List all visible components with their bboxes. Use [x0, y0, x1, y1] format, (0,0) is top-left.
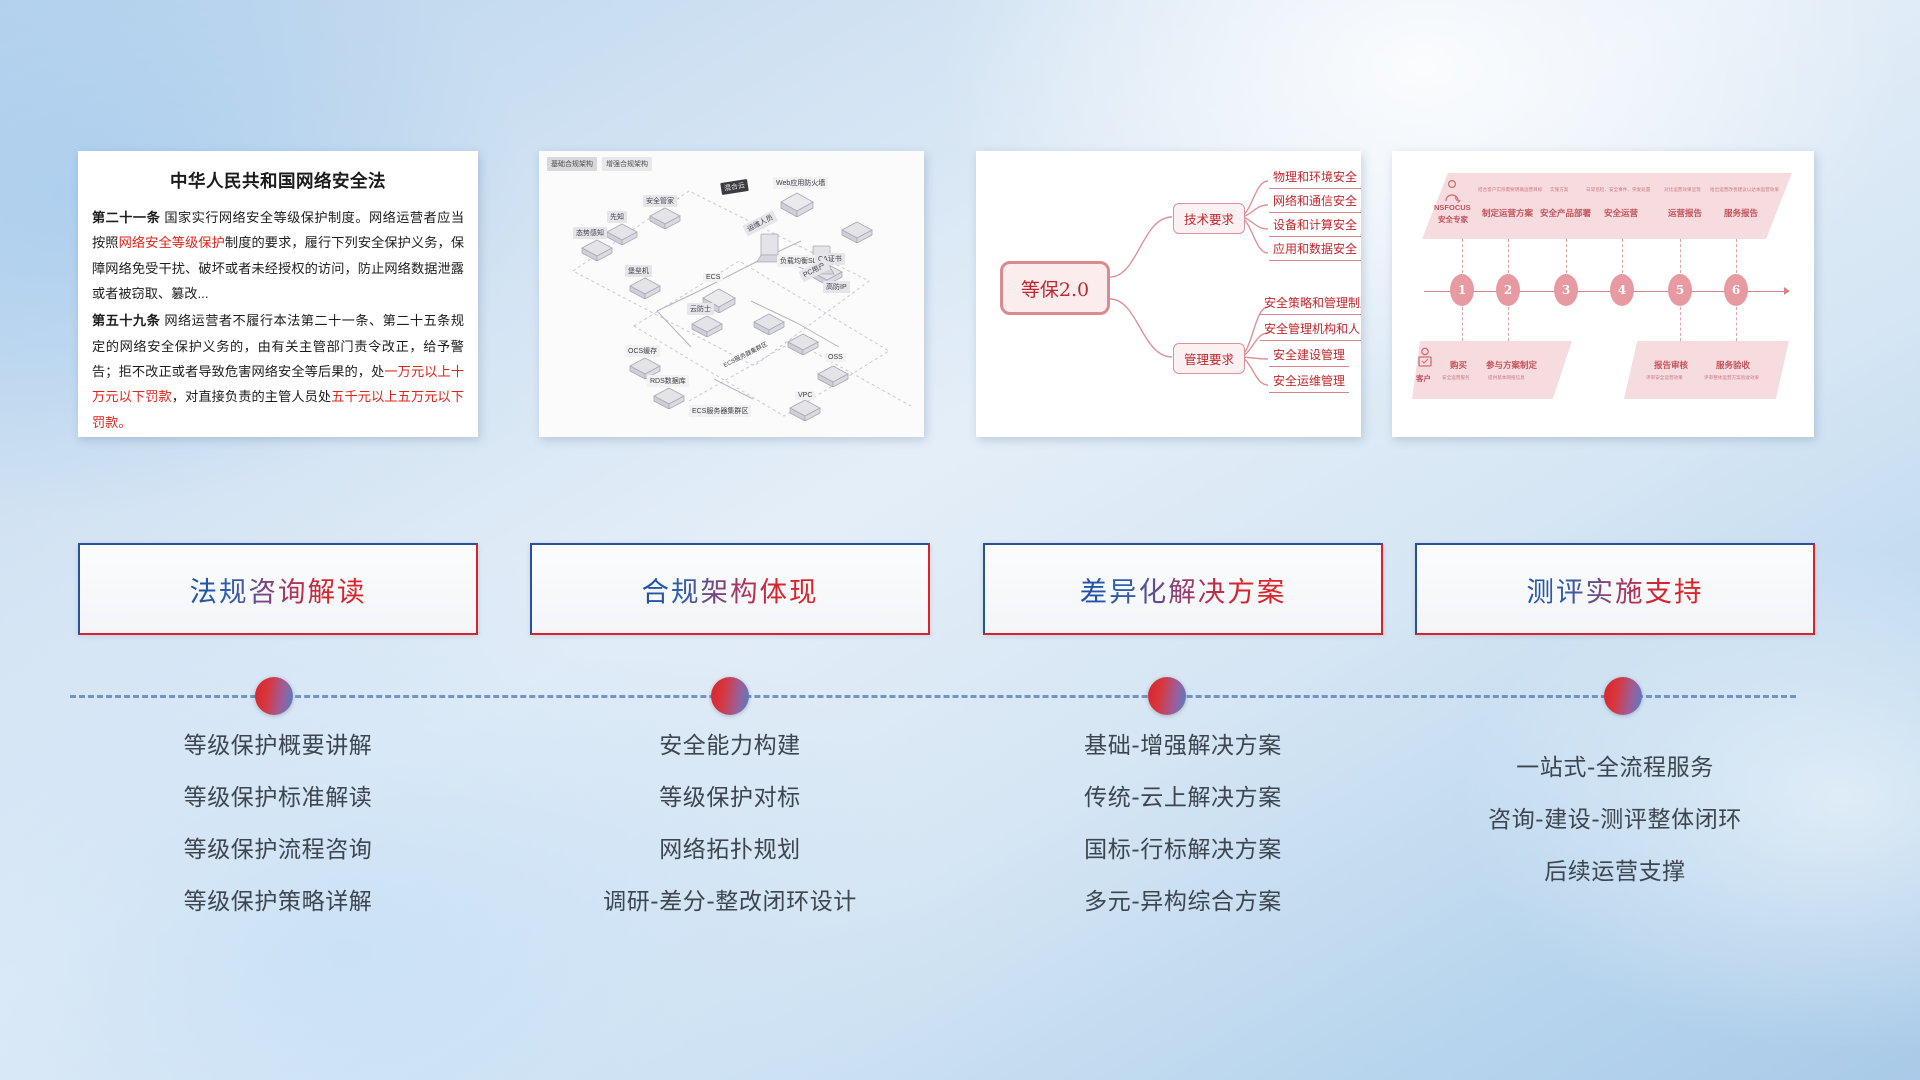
timeline-dot-4[interactable] [1604, 677, 1642, 715]
expert-label-line2: 安全专家 [1438, 214, 1468, 225]
timeline-marker-5[interactable]: 5 [1668, 274, 1692, 306]
detail-column-2: 安全能力构建 等级保护对标 网络拓扑规划 调研-差分-整改闭环设计 [530, 735, 930, 943]
connector-top-2 [1508, 239, 1509, 273]
architecture-canvas: 基础合规架构 增强合规架构 [539, 151, 924, 437]
top-step-4-title: 运营报告 [1668, 207, 1702, 219]
detail-lists-row: 等级保护概要讲解 等级保护标准解读 等级保护流程咨询 等级保护策略详解 安全能力… [0, 735, 1920, 955]
bottom-step-2-sub: 提供基本网络信息 [1488, 375, 1525, 381]
header-label-4: 测评实施支持 [1527, 569, 1704, 609]
top-step-5-title: 服务报告 [1724, 207, 1758, 219]
connector-bottom-1 [1462, 307, 1463, 341]
top-step-2-sub: 实施方案 [1550, 187, 1568, 193]
node-cube-slb [839, 217, 875, 248]
top-step-3-sub: 日常巡检、安全事件、突发处置 [1586, 187, 1650, 193]
connector-top-3 [1566, 239, 1567, 273]
nsfocus-canvas: NSFOCUS 安全专家 结合客户实际需要明确运营目标 制定运营方案 实施方案 … [1392, 151, 1814, 437]
timeline-marker-1[interactable]: 1 [1450, 274, 1474, 306]
list-item: 调研-差分-整改闭环设计 [530, 891, 930, 914]
label-ocs-cache: OCS缓存 [625, 345, 660, 357]
node-cube-yundunshi [689, 311, 725, 342]
node-cube-security-butler [647, 203, 683, 234]
article-59-text-b: ，对直接负责的主管人员处 [172, 389, 331, 404]
node-cube-webwaf [777, 187, 817, 222]
label-vpc: VPC [795, 391, 815, 400]
card-law-document[interactable]: 中华人民共和国网络安全法 第二十一条 国家实行网络安全等级保护制度。网络运营者应… [78, 151, 478, 437]
list-item: 等级保护概要讲解 [78, 735, 478, 758]
bottom-step-4-sub: 评审整体运营方案验收效果 [1704, 375, 1759, 381]
header-button-compliance-architecture[interactable]: 合规架构体现 [530, 543, 930, 635]
customer-person-icon [1416, 347, 1434, 374]
label-situational: 态势感知 [573, 227, 607, 239]
timeline-dot-2[interactable] [711, 677, 749, 715]
connector-top-5 [1680, 239, 1681, 273]
list-item: 传统-云上解决方案 [983, 787, 1383, 810]
header-button-regulation-consulting[interactable]: 法规咨询解读 [78, 543, 478, 635]
timeline-marker-4[interactable]: 4 [1610, 274, 1634, 306]
mindmap-leaf-network-comm[interactable]: 网络和通信安全 [1269, 191, 1361, 213]
header-buttons-row: 法规咨询解读 合规架构体现 差异化解决方案 测评实施支持 [0, 543, 1920, 639]
bottom-step-3-title: 报告审核 [1654, 359, 1688, 371]
top-step-1-sub: 结合客户实际需要明确运营目标 [1478, 187, 1542, 193]
law-article-59: 第五十九条 网络运营者不履行本法第二十一条、第二十五条规定的网络安全保护义务的，… [92, 308, 464, 435]
mindmap-leaf-policy-system[interactable]: 安全策略和管理制度 [1260, 293, 1361, 315]
label-xianzhi: 先知 [607, 211, 627, 223]
mindmap-canvas: 等保2.0 技术要求 管理要求 物理和环境安全 网络和通信安全 设备和计算安全 … [976, 151, 1361, 437]
connector-top-4 [1622, 239, 1623, 273]
list-item: 后续运营支撑 [1415, 861, 1815, 884]
label-rds-database: RDS数据库 [647, 375, 689, 387]
timeline-marker-2[interactable]: 2 [1496, 274, 1520, 306]
timeline-arrow-icon [1784, 287, 1790, 295]
expert-label-line1: NSFOCUS [1434, 203, 1471, 212]
header-button-evaluation-support[interactable]: 测评实施支持 [1415, 543, 1815, 635]
cards-row: 中华人民共和国网络安全法 第二十一条 国家实行网络安全等级保护制度。网络运营者应… [0, 0, 1920, 470]
card-architecture-diagram[interactable]: 基础合规架构 增强合规架构 [539, 151, 924, 437]
node-cube-cluster-b [785, 329, 821, 360]
mindmap-leaf-construction[interactable]: 安全建设管理 [1269, 345, 1349, 367]
top-step-4-sub: 对比运营效果呈现 [1664, 187, 1701, 193]
detail-column-1: 等级保护概要讲解 等级保护标准解读 等级保护流程咨询 等级保护策略详解 [78, 735, 478, 943]
label-web-waf: Web应用防火墙 [773, 177, 828, 189]
header-label-3: 差异化解决方案 [1080, 569, 1287, 609]
label-db-audit: ECS服务器集群区 [689, 405, 751, 417]
list-item: 一站式-全流程服务 [1415, 757, 1815, 780]
node-cube-bastion [627, 273, 663, 304]
law-title: 中华人民共和国网络安全法 [78, 168, 478, 193]
timeline-dashed-line [70, 695, 1796, 698]
mindmap-leaf-operations[interactable]: 安全运维管理 [1269, 371, 1349, 393]
label-yundunshi: 云防士 [687, 303, 714, 315]
list-item: 咨询-建设-测评整体闭环 [1415, 809, 1815, 832]
header-label-1: 法规咨询解读 [190, 569, 367, 609]
card-mindmap[interactable]: 等保2.0 技术要求 管理要求 物理和环境安全 网络和通信安全 设备和计算安全 … [976, 151, 1361, 437]
bottom-step-2-title: 参与方案制定 [1486, 359, 1537, 371]
customer-band-right [1624, 341, 1789, 399]
detail-column-3: 基础-增强解决方案 传统-云上解决方案 国标-行标解决方案 多元-异构综合方案 [983, 735, 1383, 943]
article-21-label: 第二十一条 [92, 210, 160, 225]
timeline-dot-1[interactable] [255, 677, 293, 715]
mindmap-leaf-org-personnel[interactable]: 安全管理机构和人员 [1260, 319, 1361, 341]
list-item: 基础-增强解决方案 [983, 735, 1383, 758]
list-item: 安全能力构建 [530, 735, 930, 758]
mindmap-leaf-device-compute[interactable]: 设备和计算安全 [1269, 215, 1361, 237]
list-item: 国标-行标解决方案 [983, 839, 1383, 862]
law-body: 第二十一条 国家实行网络安全等级保护制度。网络运营者应当按照网络安全等级保护制度… [78, 205, 478, 435]
top-step-3-title: 安全运营 [1604, 207, 1638, 219]
timeline-strip [0, 660, 1920, 720]
mindmap-leaf-app-data[interactable]: 应用和数据安全 [1269, 239, 1361, 261]
timeline-dot-3[interactable] [1148, 677, 1186, 715]
header-label-2: 合规架构体现 [642, 569, 819, 609]
detail-column-4: 一站式-全流程服务 咨询-建设-测评整体闭环 后续运营支撑 [1415, 757, 1815, 913]
list-item: 多元-异构综合方案 [983, 891, 1383, 914]
bottom-step-3-sub: 评审安全运营效果 [1646, 375, 1683, 381]
list-item: 等级保护策略详解 [78, 891, 478, 914]
mindmap-leaf-physical-env[interactable]: 物理和环境安全 [1269, 167, 1361, 189]
list-item: 等级保护对标 [530, 787, 930, 810]
label-ecs: ECS [703, 273, 723, 282]
mindmap-root-node[interactable]: 等保2.0 [1000, 261, 1110, 315]
article-59-label: 第五十九条 [92, 313, 160, 328]
mindmap-branch-technical[interactable]: 技术要求 [1173, 203, 1245, 234]
connector-top-6 [1736, 239, 1737, 273]
card-nsfocus-timeline[interactable]: NSFOCUS 安全专家 结合客户实际需要明确运营目标 制定运营方案 实施方案 … [1392, 151, 1814, 437]
node-cube-rds [651, 383, 687, 414]
connector-bottom-2 [1508, 307, 1509, 341]
connector-bottom-4 [1736, 307, 1737, 341]
list-item: 等级保护流程咨询 [78, 839, 478, 862]
label-oss: OSS [825, 353, 846, 362]
node-cube-cluster-a [751, 309, 787, 340]
connector-top-1 [1462, 239, 1463, 273]
bottom-step-4-title: 服务验收 [1716, 359, 1750, 371]
top-step-1-title: 制定运营方案 [1482, 207, 1533, 219]
node-cube-xianzhi [604, 219, 640, 250]
header-button-differentiated-solution[interactable]: 差异化解决方案 [983, 543, 1383, 635]
article-21-highlight: 网络安全等级保护 [119, 235, 225, 250]
customer-label: 客户 [1416, 373, 1431, 384]
connector-bottom-3 [1680, 307, 1681, 341]
bottom-step-1-sub: 安全运营服务 [1442, 375, 1470, 381]
label-bastion: 堡垒机 [625, 265, 652, 277]
timeline-marker-6[interactable]: 6 [1724, 274, 1748, 306]
label-security-butler: 安全管家 [643, 195, 677, 207]
list-item: 等级保护标准解读 [78, 787, 478, 810]
node-cube-oss [815, 361, 851, 392]
bottom-step-1-title: 购买 [1450, 359, 1467, 371]
expert-band [1422, 173, 1792, 239]
timeline-marker-3[interactable]: 3 [1554, 274, 1578, 306]
top-step-2-title: 安全产品部署 [1540, 207, 1591, 219]
label-anti-ddos-ip: 高防IP [823, 281, 850, 293]
top-step-5-sub: 给出运营改善建议以达本运营效果 [1710, 187, 1779, 193]
list-item: 网络拓扑规划 [530, 839, 930, 862]
law-article-21: 第二十一条 国家实行网络安全等级保护制度。网络运营者应当按照网络安全等级保护制度… [92, 205, 464, 306]
mindmap-branch-management[interactable]: 管理要求 [1173, 343, 1245, 374]
